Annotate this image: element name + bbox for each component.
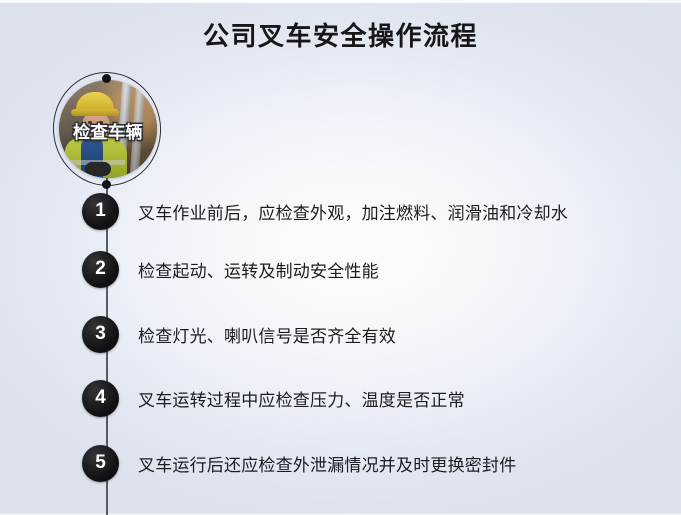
slide-canvas: 公司叉车安全操作流程 检查车辆 1 叉车作业前后，应检查外观，加注燃料、润滑油和 — [0, 0, 681, 515]
list-item-step-5[interactable]: 5 叉车运行后还应检查外泄漏情况并及时更换密封件 — [82, 439, 516, 487]
step-number-badge: 5 — [82, 445, 119, 482]
list-item-step-4[interactable]: 4 叉车运转过程中应检查压力、温度是否正常 — [82, 374, 465, 422]
step-number-badge: 4 — [82, 380, 119, 417]
step-number-badge: 2 — [82, 251, 119, 288]
list-item-step-2[interactable]: 2 检查起动、运转及制动安全性能 — [82, 245, 379, 293]
list-item-step-1[interactable]: 1 叉车作业前后，应检查外观，加注燃料、润滑油和冷却水 — [82, 187, 568, 235]
step-text: 叉车运行后还应检查外泄漏情况并及时更换密封件 — [138, 451, 516, 476]
list-item-step-3[interactable]: 3 检查灯光、喇叭信号是否齐全有效 — [82, 310, 396, 358]
step-text: 检查灯光、喇叭信号是否齐全有效 — [138, 322, 396, 347]
step-number-badge: 1 — [82, 193, 119, 230]
steps-list: 1 叉车作业前后，应检查外观，加注燃料、润滑油和冷却水 2 检查起动、运转及制动… — [0, 0, 681, 515]
step-text: 叉车运转过程中应检查压力、温度是否正常 — [138, 386, 465, 411]
step-number-badge: 3 — [82, 316, 119, 353]
step-text: 叉车作业前后，应检查外观，加注燃料、润滑油和冷却水 — [138, 199, 568, 224]
step-text: 检查起动、运转及制动安全性能 — [138, 257, 379, 282]
